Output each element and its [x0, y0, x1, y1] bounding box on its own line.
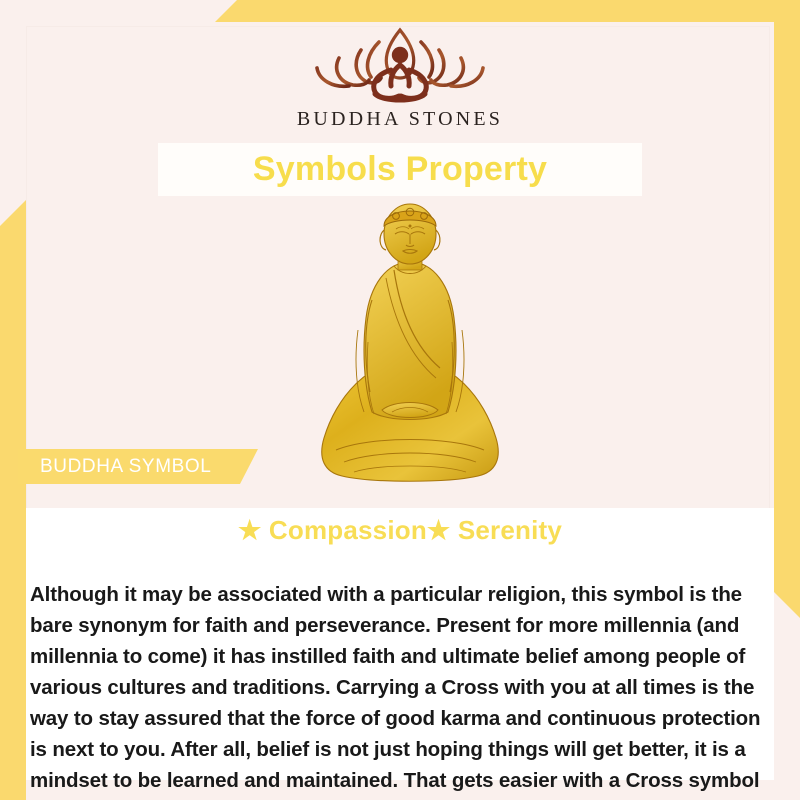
- page-title: Symbols Property: [253, 150, 547, 189]
- decorative-band-left: [0, 200, 26, 800]
- brand-logo: BUDDHA STONES: [0, 22, 800, 142]
- decorative-band-top-right: [215, 0, 800, 22]
- keywords-heading: ★ Compassion★ Serenity: [0, 515, 800, 546]
- lotus-meditation-figure-icon: [305, 22, 495, 104]
- decorative-band-bottom-left: [0, 770, 26, 800]
- title-banner: Symbols Property: [158, 143, 642, 196]
- golden-buddha-illustration: [310, 200, 510, 500]
- poster-canvas: BUDDHA STONES Symbols Property: [0, 0, 800, 800]
- body-paragraph: Although it may be associated with a par…: [30, 579, 770, 800]
- buddha-symbol-ribbon: BUDDHA SYMBOL: [18, 449, 258, 484]
- brand-name: BUDDHA STONES: [297, 108, 503, 131]
- ribbon-label: BUDDHA SYMBOL: [18, 456, 211, 478]
